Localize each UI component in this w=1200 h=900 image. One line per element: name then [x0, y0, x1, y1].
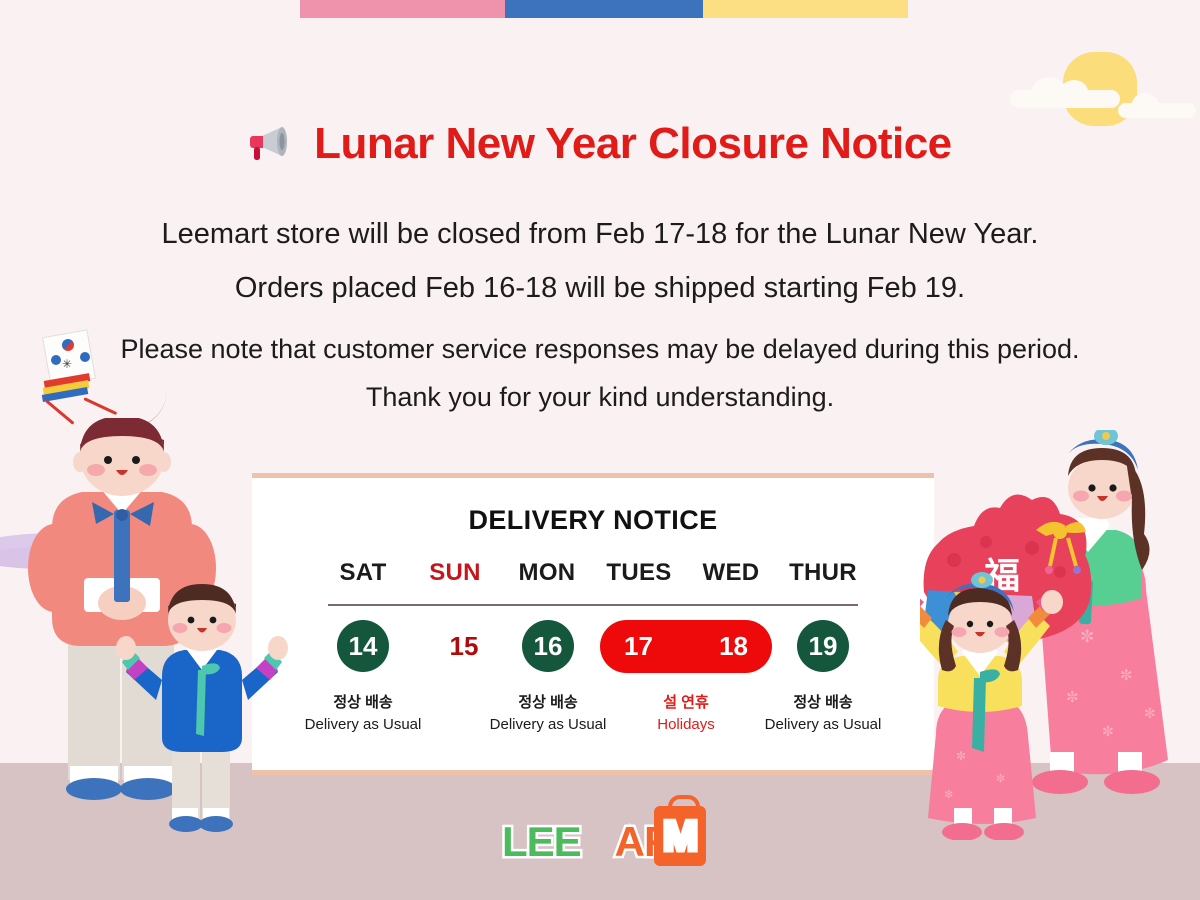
cloud-icon-right [1118, 103, 1196, 118]
caption-holiday: 설 연휴 Holidays [606, 692, 766, 736]
hanbok-mother-and-girl: ✼ ✼ ✼ ✼ ✼ [920, 430, 1200, 840]
top-color-bar [300, 0, 908, 18]
caption-holiday-kr: 설 연휴 [606, 692, 766, 714]
caption-holiday-en: Holidays [606, 714, 766, 736]
notice-line-3: Please note that customer service respon… [0, 334, 1200, 365]
svg-text:✼: ✼ [1080, 627, 1094, 646]
date-label-17: 17 [624, 631, 653, 662]
date-label-18: 18 [719, 631, 748, 662]
logo-wordmark: LEEMART M [502, 818, 698, 866]
hanbok-father-and-boy [22, 418, 332, 838]
poster-canvas: ✳ Lunar New Year Closure Notice Leemart … [0, 0, 1200, 900]
svg-text:✼: ✼ [1102, 723, 1114, 739]
weekday-wed: WED [685, 559, 777, 587]
caption-19-kr: 정상 배송 [743, 692, 903, 714]
date-badge-16: 16 [522, 620, 574, 672]
weekday-mon: MON [501, 559, 593, 587]
weekday-sun: SUN [409, 559, 501, 587]
date-badge-14: 14 [337, 620, 389, 672]
notice-line-2: Orders placed Feb 16-18 will be shipped … [0, 272, 1200, 305]
caption-16-kr: 정상 배송 [468, 692, 628, 714]
weekday-thur: THUR [777, 559, 869, 587]
notice-line-1: Leemart store will be closed from Feb 17… [0, 218, 1200, 251]
svg-text:✼: ✼ [956, 749, 966, 763]
color-segment-yellow [703, 0, 908, 18]
caption-19: 정상 배송 Delivery as Usual [743, 692, 903, 736]
svg-text:✼: ✼ [1120, 667, 1133, 684]
caption-16: 정상 배송 Delivery as Usual [468, 692, 628, 736]
cloud-icon-left [1010, 90, 1120, 108]
color-segment-blue [505, 0, 703, 18]
caption-16-en: Delivery as Usual [468, 714, 628, 736]
weekday-header-row: SAT SUN MON TUES WED THUR [252, 559, 934, 587]
notice-line-4: Thank you for your kind understanding. [0, 382, 1200, 413]
svg-text:✼: ✼ [944, 789, 953, 801]
weekday-tues: TUES [593, 559, 685, 587]
date-label-15: 15 [438, 620, 490, 672]
holiday-date-pill: 17 18 [600, 620, 772, 673]
logo-m: M [654, 806, 706, 866]
delivery-notice-card: DELIVERY NOTICE SAT SUN MON TUES WED THU… [252, 473, 934, 775]
color-segment-pink [300, 0, 505, 18]
header-divider [328, 604, 858, 606]
svg-text:✼: ✼ [1144, 705, 1156, 721]
page-title-text: Lunar New Year Closure Notice [314, 119, 952, 168]
page-title: Lunar New Year Closure Notice [0, 122, 1200, 170]
date-badge-19: 19 [797, 620, 849, 672]
card-title: DELIVERY NOTICE [252, 505, 934, 536]
date-row: 14 15 16 17 18 19 정상 배송 Delivery as Usua… [252, 620, 934, 740]
logo-lee: LEE [502, 818, 581, 865]
svg-text:✼: ✼ [996, 773, 1005, 785]
brand-logo[interactable]: LEEMART M [0, 818, 1200, 866]
caption-19-en: Delivery as Usual [743, 714, 903, 736]
megaphone-icon [248, 124, 292, 170]
svg-text:✼: ✼ [1066, 689, 1079, 706]
